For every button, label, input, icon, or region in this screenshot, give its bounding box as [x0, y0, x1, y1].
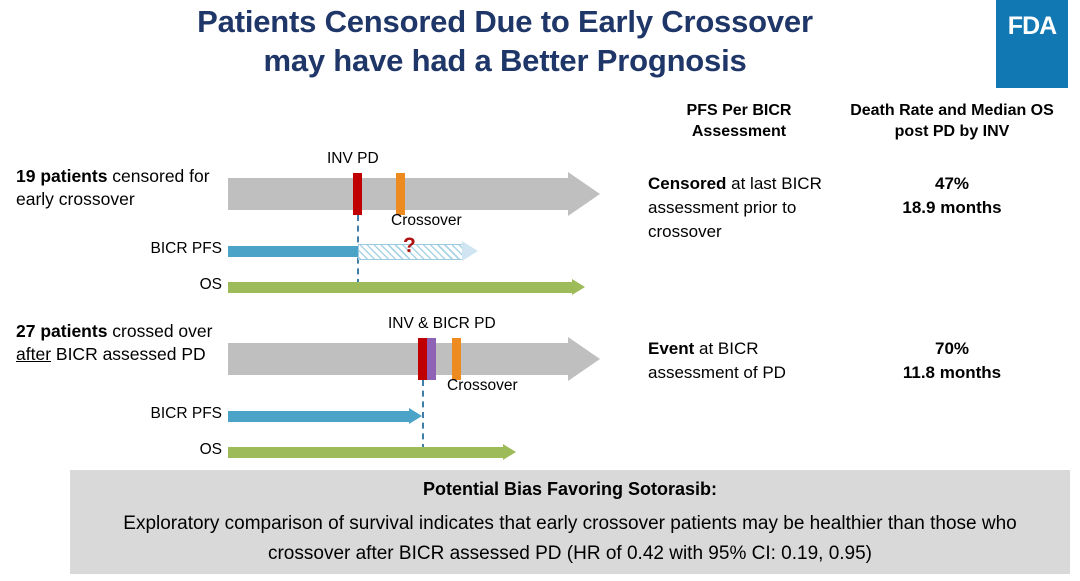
timeline-arrowhead-icon: [568, 337, 600, 381]
bar-label-bicr-pfs-row-2: BICR PFS: [130, 405, 222, 423]
bar-bicr-pfs-row-1: [228, 243, 358, 259]
bar-bicr-pfs-row-2: [228, 408, 422, 424]
row-2-description: 27 patients crossed over after BICR asse…: [16, 320, 241, 366]
stats-row-2: 70% 11.8 months: [832, 337, 1072, 385]
page-title: Patients Censored Due to Early Crossover…: [40, 2, 970, 80]
caption-crossover-row-1: Crossover: [391, 212, 462, 230]
timeline-arrowhead-icon: [568, 172, 600, 216]
assessment-row-1: Censored at last BICR assessment prior t…: [648, 172, 838, 244]
bar-bicr-pfs-unknown-row-1: [358, 241, 478, 261]
row-2-count: 27 patients: [16, 321, 107, 341]
median-os-row-1: 18.9 months: [832, 196, 1072, 220]
death-rate-row-2: 70%: [832, 337, 1072, 361]
bar-arrowhead-icon: [503, 444, 516, 460]
timeline-arrow-row-2: [228, 337, 600, 381]
column-header-pfs: PFS Per BICR Assessment: [648, 100, 830, 142]
column-header-death-rate: Death Rate and Median OS post PD by INV: [832, 100, 1072, 142]
row-2-description-text: BICR assessed PD: [51, 344, 206, 364]
stats-row-1: 47% 18.9 months: [832, 172, 1072, 220]
assessment-row-2-status: Event: [648, 339, 694, 358]
timeline-arrow-row-1: [228, 172, 600, 216]
death-rate-row-1: 47%: [832, 172, 1072, 196]
callout-heading: Potential Bias Favoring Sotorasib:: [70, 479, 1070, 500]
median-os-row-2: 11.8 months: [832, 361, 1072, 385]
callout-body: Exploratory comparison of survival indic…: [84, 509, 1056, 569]
title-line-2: may have had a Better Prognosis: [40, 41, 970, 80]
bar-label-os-row-1: OS: [130, 276, 222, 294]
bar-body: [228, 411, 409, 422]
assessment-row-2: Event at BICR assessment of PD: [648, 337, 838, 385]
caption-crossover-row-2: Crossover: [447, 377, 518, 395]
timeline-shaft: [228, 343, 568, 375]
marker-bicr-pd-row-2: [427, 338, 436, 380]
question-mark-icon: ?: [403, 234, 416, 258]
bar-body: [228, 246, 358, 257]
bar-os-row-1: [228, 279, 585, 295]
hatched-arrowhead-icon: [462, 241, 478, 261]
callout-box: Potential Bias Favoring Sotorasib: Explo…: [70, 470, 1070, 574]
bar-body: [228, 282, 572, 293]
bar-label-os-row-2: OS: [130, 441, 222, 459]
marker-inv-pd-row-1: [353, 173, 362, 215]
bar-os-row-2: [228, 444, 516, 460]
dashed-connector-row-2: [422, 380, 424, 450]
marker-crossover-row-2: [452, 338, 461, 380]
bar-arrowhead-icon: [572, 279, 585, 295]
assessment-row-1-status: Censored: [648, 174, 726, 193]
row-1-description: 19 patients censored for early crossover: [16, 165, 241, 211]
bar-arrowhead-icon: [409, 408, 422, 424]
bar-body: [228, 447, 503, 458]
caption-inv-pd-row-1: INV PD: [327, 150, 379, 168]
row-2-description-emphasis: after: [16, 344, 51, 364]
caption-inv-bicr-pd-row-2: INV & BICR PD: [388, 315, 496, 333]
fda-logo: FDA: [996, 0, 1068, 88]
marker-inv-pd-row-2: [418, 338, 427, 380]
bar-label-bicr-pfs-row-1: BICR PFS: [130, 240, 222, 258]
title-line-1: Patients Censored Due to Early Crossover: [40, 2, 970, 41]
fda-logo-text: FDA: [996, 12, 1068, 41]
row-1-count: 19 patients: [16, 166, 107, 186]
marker-crossover-row-1: [396, 173, 405, 215]
row-2-description-mid: crossed over: [107, 321, 212, 341]
